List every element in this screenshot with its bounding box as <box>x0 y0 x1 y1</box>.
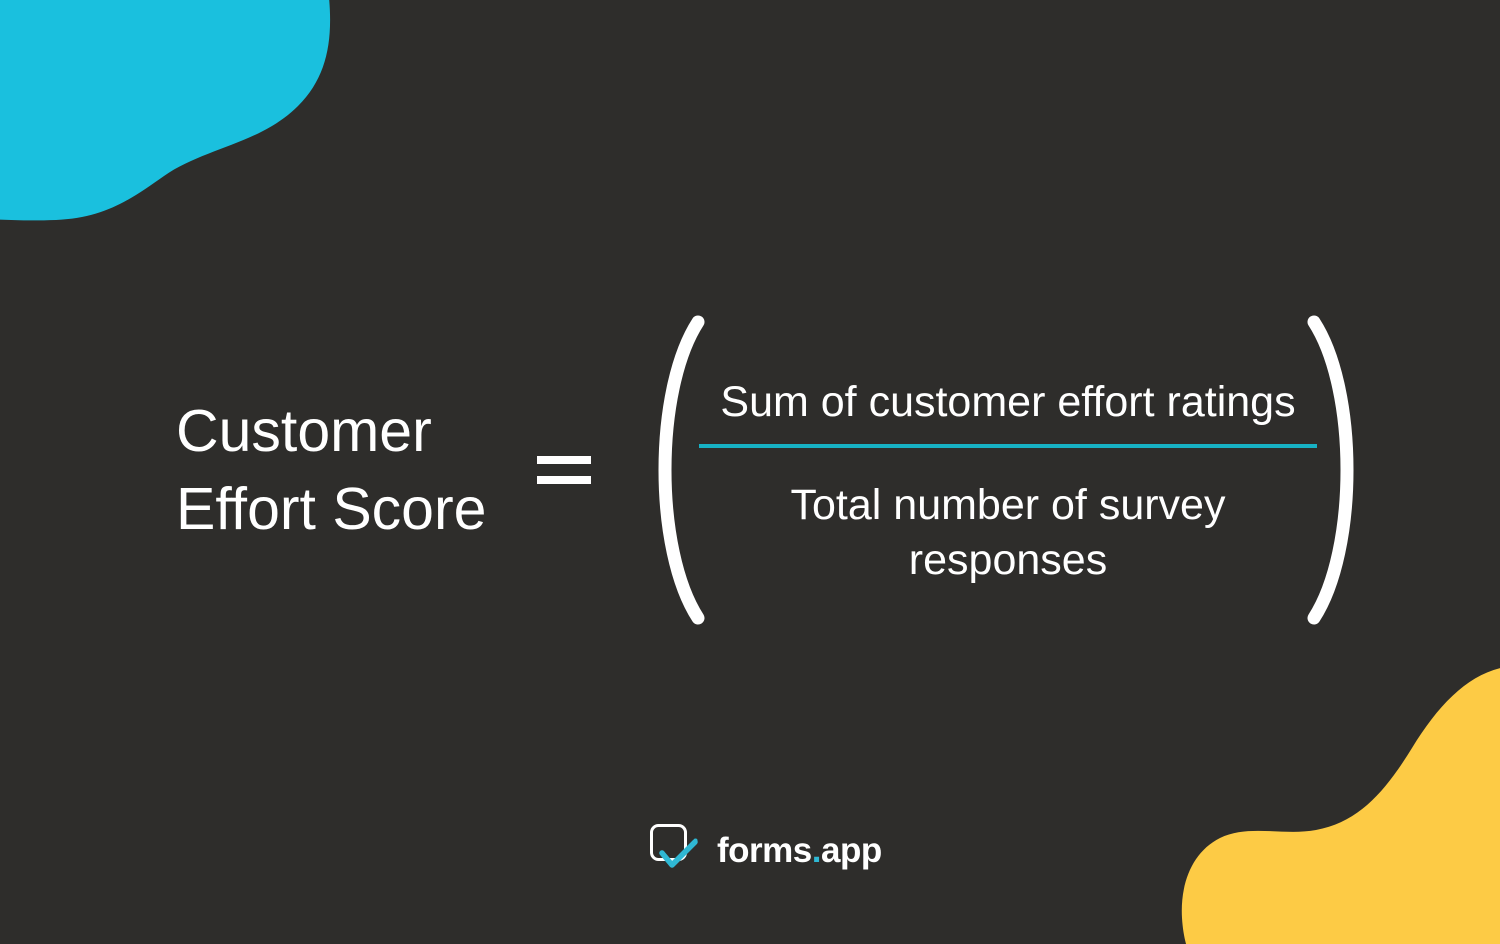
equals-sign <box>537 456 591 486</box>
brand-name-dot: . <box>812 831 821 870</box>
brand-name-last: app <box>821 831 882 870</box>
equals-bar-bottom <box>537 476 591 484</box>
poster-canvas: Customer Effort Score Sum of customer ef… <box>0 0 1500 944</box>
brand-logo: forms.app <box>648 822 882 880</box>
brand-wordmark: forms.app <box>717 832 882 870</box>
brand-name-first: forms <box>717 831 812 870</box>
formula-label: Customer Effort Score <box>176 392 536 548</box>
forms-app-check-icon <box>648 822 706 880</box>
fraction-denominator: Total number of survey responses <box>690 448 1326 588</box>
formula-block: Customer Effort Score Sum of customer ef… <box>0 0 1500 944</box>
equals-bar-top <box>537 456 591 464</box>
fraction-numerator: Sum of customer effort ratings <box>690 375 1326 444</box>
fraction: Sum of customer effort ratings Total num… <box>690 375 1326 588</box>
